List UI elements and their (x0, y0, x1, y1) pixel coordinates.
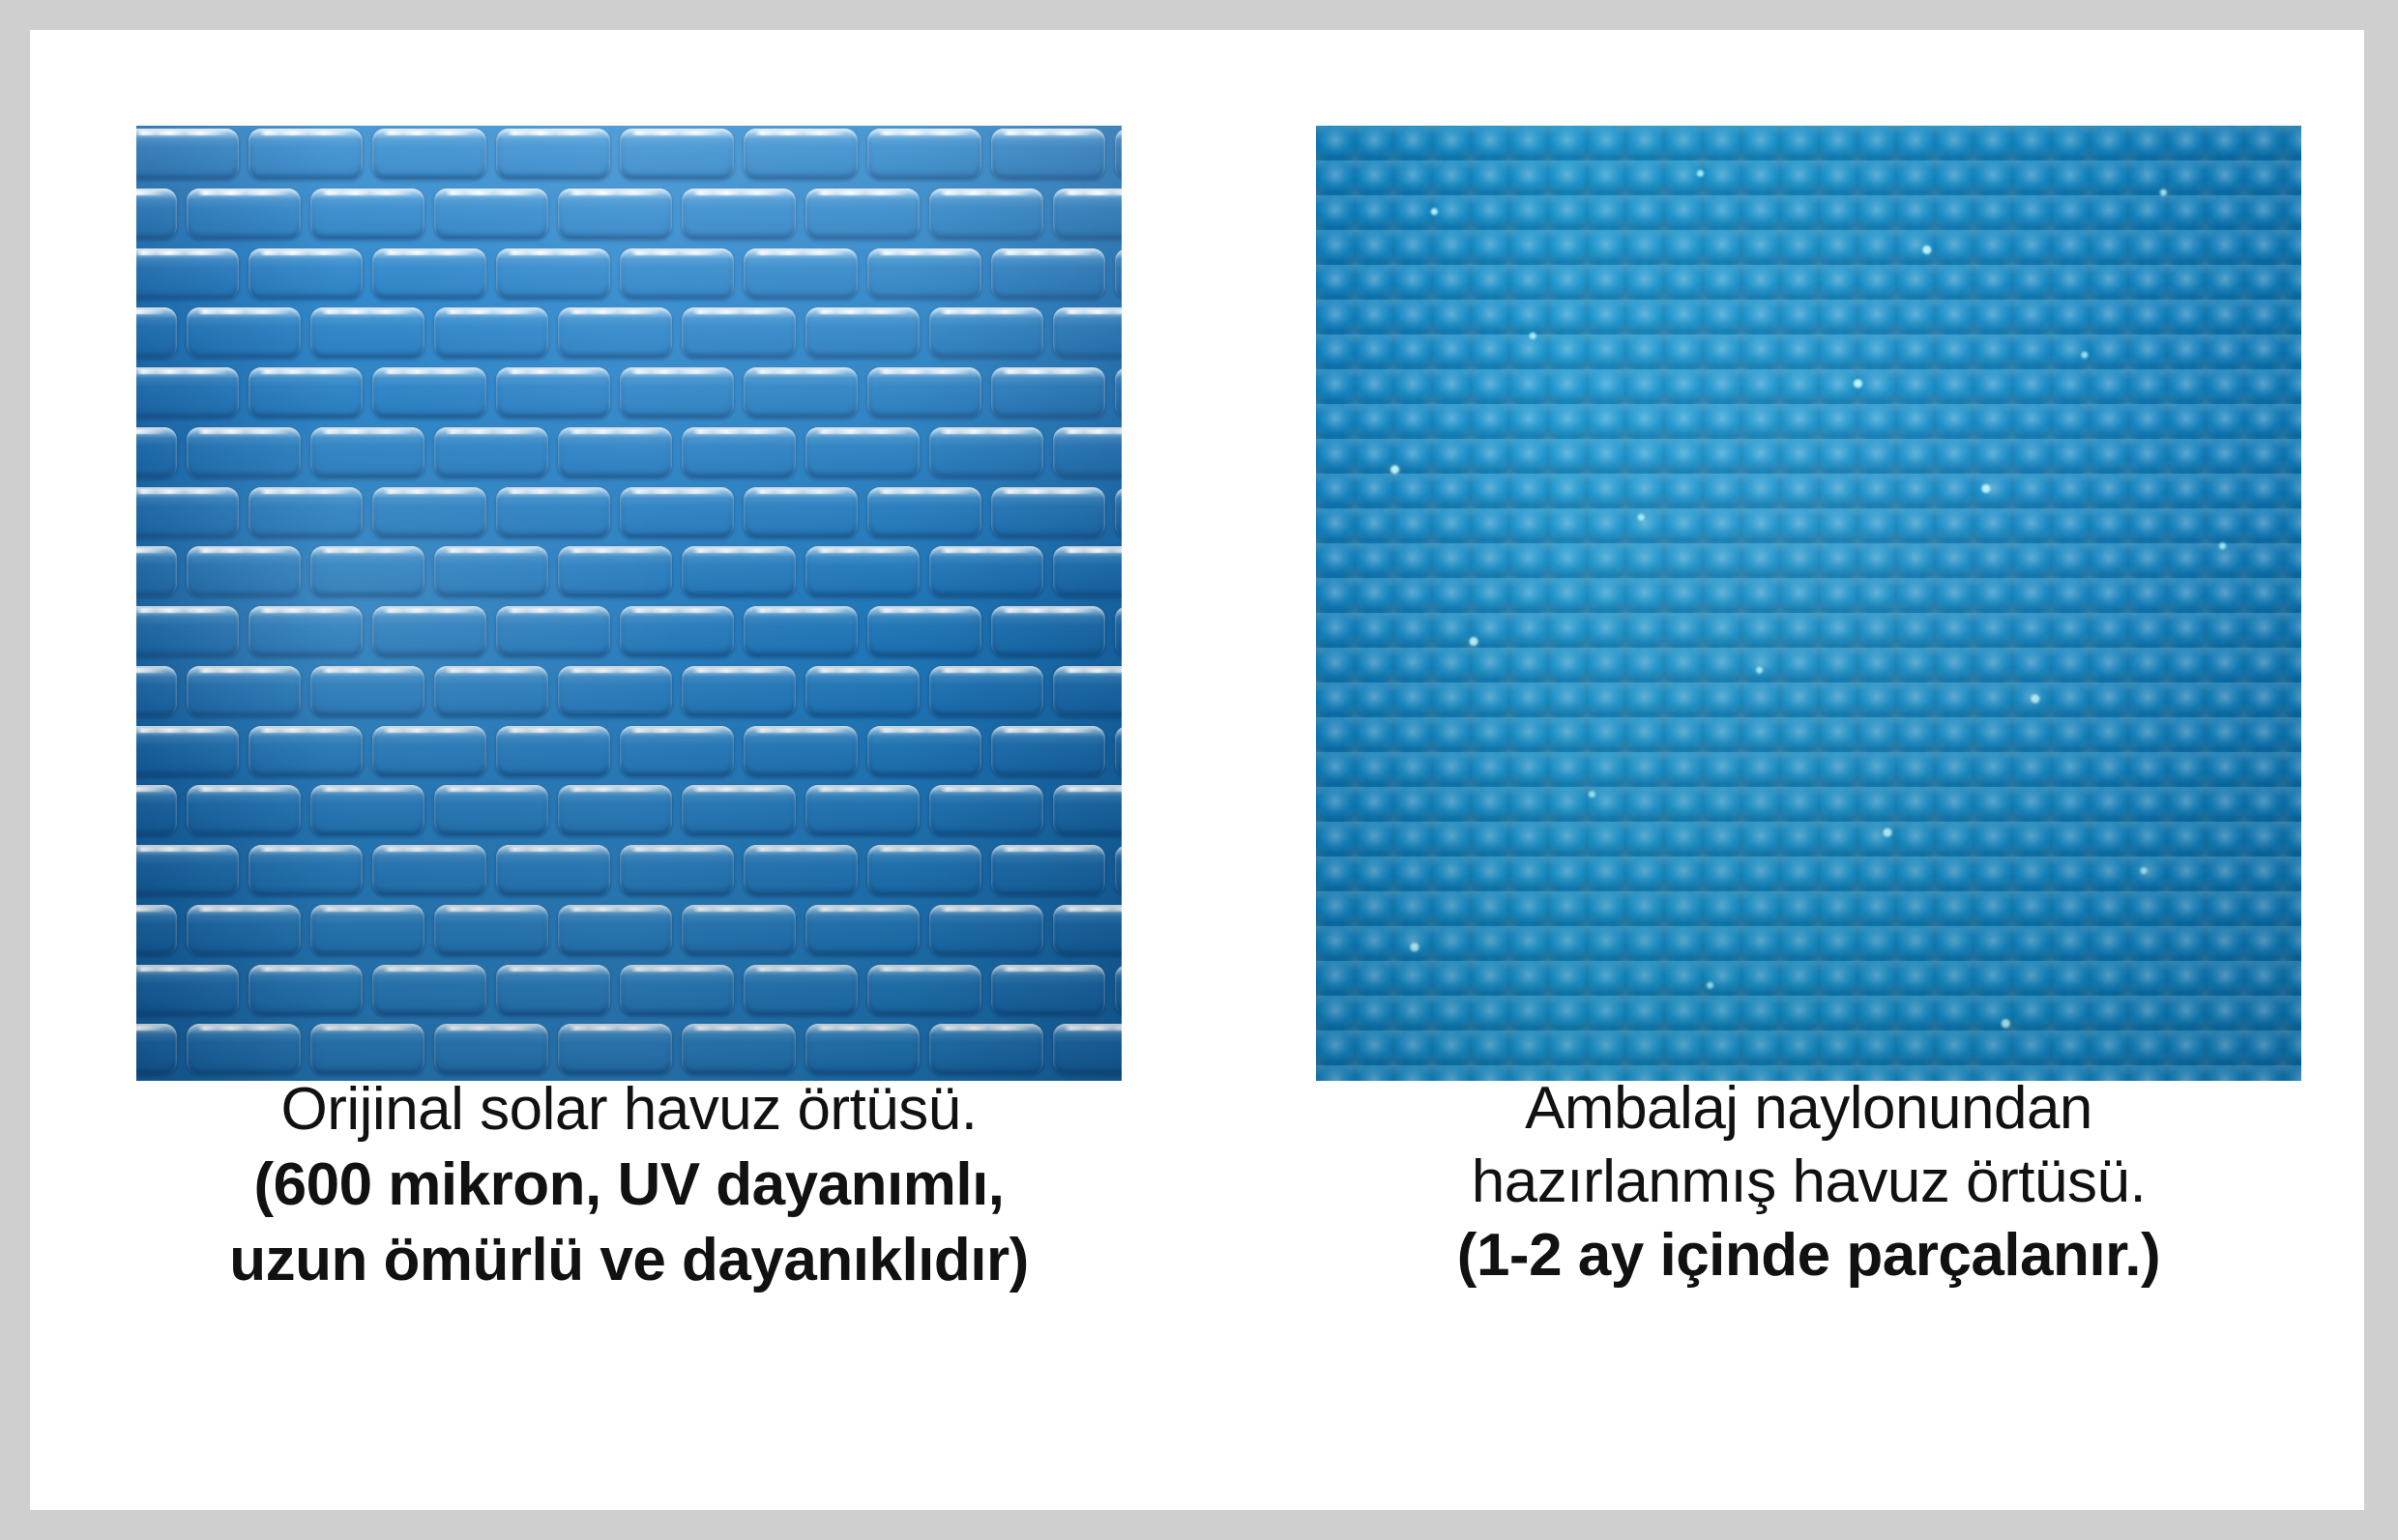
brick-cell (136, 189, 177, 239)
brick-row (136, 126, 1122, 186)
brick-cell (310, 307, 424, 358)
brick-row (136, 603, 1122, 663)
brick-cell (558, 905, 672, 955)
brick-cell (929, 785, 1043, 835)
caption-line-2: (600 mikron, UV dayanımlı, (136, 1148, 1122, 1223)
caption-line-3: uzun ömürlü ve dayanıklıdır) (136, 1223, 1122, 1298)
brick-cell (496, 487, 610, 538)
brick-cell (372, 845, 486, 895)
brick-cell (249, 248, 363, 299)
brick-cell (434, 785, 548, 835)
brick-cell (310, 666, 424, 716)
brick-cell (991, 726, 1105, 776)
brick-cell (867, 726, 981, 776)
brick-cell (434, 905, 548, 955)
brick-cell (1053, 189, 1122, 239)
brick-cell (620, 248, 734, 299)
brick-cell (372, 965, 486, 1015)
brick-cell (187, 905, 301, 955)
brick-row (136, 484, 1122, 544)
brick-cell (991, 129, 1105, 179)
caption-line-1: Ambalaj naylonundan (1316, 1072, 2301, 1146)
brick-cell (805, 785, 920, 835)
brick-cell (434, 307, 548, 358)
brick-cell (496, 845, 610, 895)
brick-cell (249, 606, 363, 656)
brick-cell (744, 487, 858, 538)
brick-cell (434, 546, 548, 596)
brick-cell (805, 546, 920, 596)
brick-cell (187, 189, 301, 239)
brick-cell (434, 189, 548, 239)
white-content-card: Orijinal solar havuz örtüsü. (600 mikron… (30, 30, 2364, 1510)
caption-packaging-nylon-cover: Ambalaj naylonundan hazırlanmış havuz ör… (1316, 1072, 2301, 1293)
brick-cell (558, 666, 672, 716)
brick-cell (496, 965, 610, 1015)
brick-cell (867, 129, 981, 179)
outer-gray-frame: Orijinal solar havuz örtüsü. (600 mikron… (0, 0, 2398, 1540)
brick-cell (682, 427, 796, 478)
brick-cell (620, 606, 734, 656)
brick-cell (372, 606, 486, 656)
brick-cell (249, 965, 363, 1015)
brick-cell (929, 427, 1043, 478)
brick-cell (558, 1024, 672, 1074)
brick-cell (558, 307, 672, 358)
brick-cell (867, 487, 981, 538)
brick-cell (1053, 546, 1122, 596)
brick-cell (1115, 606, 1122, 656)
brick-cell (187, 307, 301, 358)
brick-cell (1053, 1024, 1122, 1074)
brick-cell (1053, 666, 1122, 716)
brick-cell (1115, 726, 1122, 776)
brick-cell (620, 726, 734, 776)
brick-cell (929, 905, 1043, 955)
brick-cell (929, 189, 1043, 239)
brick-cell (682, 546, 796, 596)
brick-cell (805, 666, 920, 716)
brick-cell (496, 129, 610, 179)
brick-cell (187, 785, 301, 835)
brick-cell (434, 666, 548, 716)
swatch-image-packaging-nylon-cover (1316, 126, 2301, 1081)
brick-cell (744, 606, 858, 656)
brick-cell (620, 487, 734, 538)
brick-cell (620, 129, 734, 179)
brick-cell (136, 546, 177, 596)
brick-cell (744, 248, 858, 299)
brick-cell (136, 785, 177, 835)
brick-row (136, 246, 1122, 305)
brick-cell (682, 785, 796, 835)
brick-row (136, 663, 1122, 723)
brick-cell (991, 487, 1105, 538)
brick-cell (310, 427, 424, 478)
brick-cell (496, 606, 610, 656)
brick-cell (372, 726, 486, 776)
caption-line-1: Orijinal solar havuz örtüsü. (136, 1072, 1122, 1148)
brick-cell (136, 427, 177, 478)
brick-row (136, 364, 1122, 424)
brick-cell (1115, 487, 1122, 538)
brick-row (136, 723, 1122, 783)
brick-cell (558, 785, 672, 835)
brick-cell (310, 905, 424, 955)
brick-cell (744, 129, 858, 179)
brick-cell (1053, 905, 1122, 955)
brick-cell (136, 905, 177, 955)
brick-cell (1053, 427, 1122, 478)
brick-cell (136, 248, 239, 299)
brick-cell (136, 129, 239, 179)
brick-cell (187, 427, 301, 478)
brick-cell (310, 546, 424, 596)
brick-cell (310, 785, 424, 835)
brick-cell (187, 546, 301, 596)
brick-cell (1115, 248, 1122, 299)
brick-cell (187, 666, 301, 716)
brick-cell (805, 307, 920, 358)
brick-cell (496, 726, 610, 776)
brick-cell (744, 367, 858, 418)
brick-cell (249, 845, 363, 895)
brick-row (136, 782, 1122, 842)
brick-cell (620, 965, 734, 1015)
brick-cell (372, 129, 486, 179)
brick-cell (1053, 785, 1122, 835)
brick-cell (558, 546, 672, 596)
brick-cell (682, 905, 796, 955)
brick-cell (805, 189, 920, 239)
brick-cell (249, 726, 363, 776)
brick-cell (558, 427, 672, 478)
brick-cell (496, 367, 610, 418)
brick-cell (744, 845, 858, 895)
comparison-column-original (136, 126, 1122, 1081)
brick-cell (744, 965, 858, 1015)
swatch-image-original-solar-cover (136, 126, 1122, 1081)
brick-cell (1115, 965, 1122, 1015)
brick-cell (867, 965, 981, 1015)
brick-cell (1115, 367, 1122, 418)
brick-cell (991, 845, 1105, 895)
brick-cell (744, 726, 858, 776)
brick-cell (805, 905, 920, 955)
brick-cell (136, 487, 239, 538)
brick-cell (682, 1024, 796, 1074)
brick-cell (434, 427, 548, 478)
brick-cell (929, 1024, 1043, 1074)
bubble-texture-vignette (1316, 126, 2301, 1081)
brick-cell (620, 367, 734, 418)
brick-row (136, 305, 1122, 364)
brick-cell (136, 666, 177, 716)
brick-cell (867, 606, 981, 656)
brick-cell (805, 1024, 920, 1074)
brick-cell (136, 307, 177, 358)
brick-cell (496, 248, 610, 299)
brick-cell (991, 965, 1105, 1015)
caption-line-2: hazırlanmış havuz örtüsü. (1316, 1146, 2301, 1219)
brick-cell (558, 189, 672, 239)
brick-row (136, 842, 1122, 902)
brick-row (136, 424, 1122, 484)
brick-cell (1115, 845, 1122, 895)
brick-cell (310, 189, 424, 239)
brick-cell (1053, 307, 1122, 358)
brick-row (136, 186, 1122, 246)
brick-cell (929, 307, 1043, 358)
brick-cell (620, 845, 734, 895)
brick-cell (136, 1024, 177, 1074)
brick-row (136, 543, 1122, 603)
brick-cell (249, 487, 363, 538)
brick-cell (249, 129, 363, 179)
brick-cell (1115, 129, 1122, 179)
brick-cell (136, 606, 239, 656)
brick-cell (682, 307, 796, 358)
brick-cell (682, 189, 796, 239)
brick-cell (136, 367, 239, 418)
brick-cell (682, 666, 796, 716)
brick-cell (136, 726, 239, 776)
brick-cell (929, 666, 1043, 716)
brick-cell (372, 487, 486, 538)
brick-cell (991, 367, 1105, 418)
caption-original-solar-cover: Orijinal solar havuz örtüsü. (600 mikron… (136, 1072, 1122, 1298)
brick-cell (991, 606, 1105, 656)
brick-cell (867, 248, 981, 299)
brick-cell (434, 1024, 548, 1074)
brick-row (136, 962, 1122, 1022)
brick-cell (372, 367, 486, 418)
brick-cell (805, 427, 920, 478)
brick-cell (310, 1024, 424, 1074)
brick-cell (136, 965, 239, 1015)
brick-cell (249, 367, 363, 418)
brick-cell (372, 248, 486, 299)
brick-cell (867, 845, 981, 895)
brick-cell (136, 845, 239, 895)
comparison-column-packaging-nylon (1316, 126, 2301, 1081)
brick-row (136, 902, 1122, 962)
brick-cell (929, 546, 1043, 596)
brick-cell (187, 1024, 301, 1074)
brick-cell (867, 367, 981, 418)
brick-cell (991, 248, 1105, 299)
caption-line-3: (1-2 ay içinde parçalanır.) (1316, 1219, 2301, 1293)
